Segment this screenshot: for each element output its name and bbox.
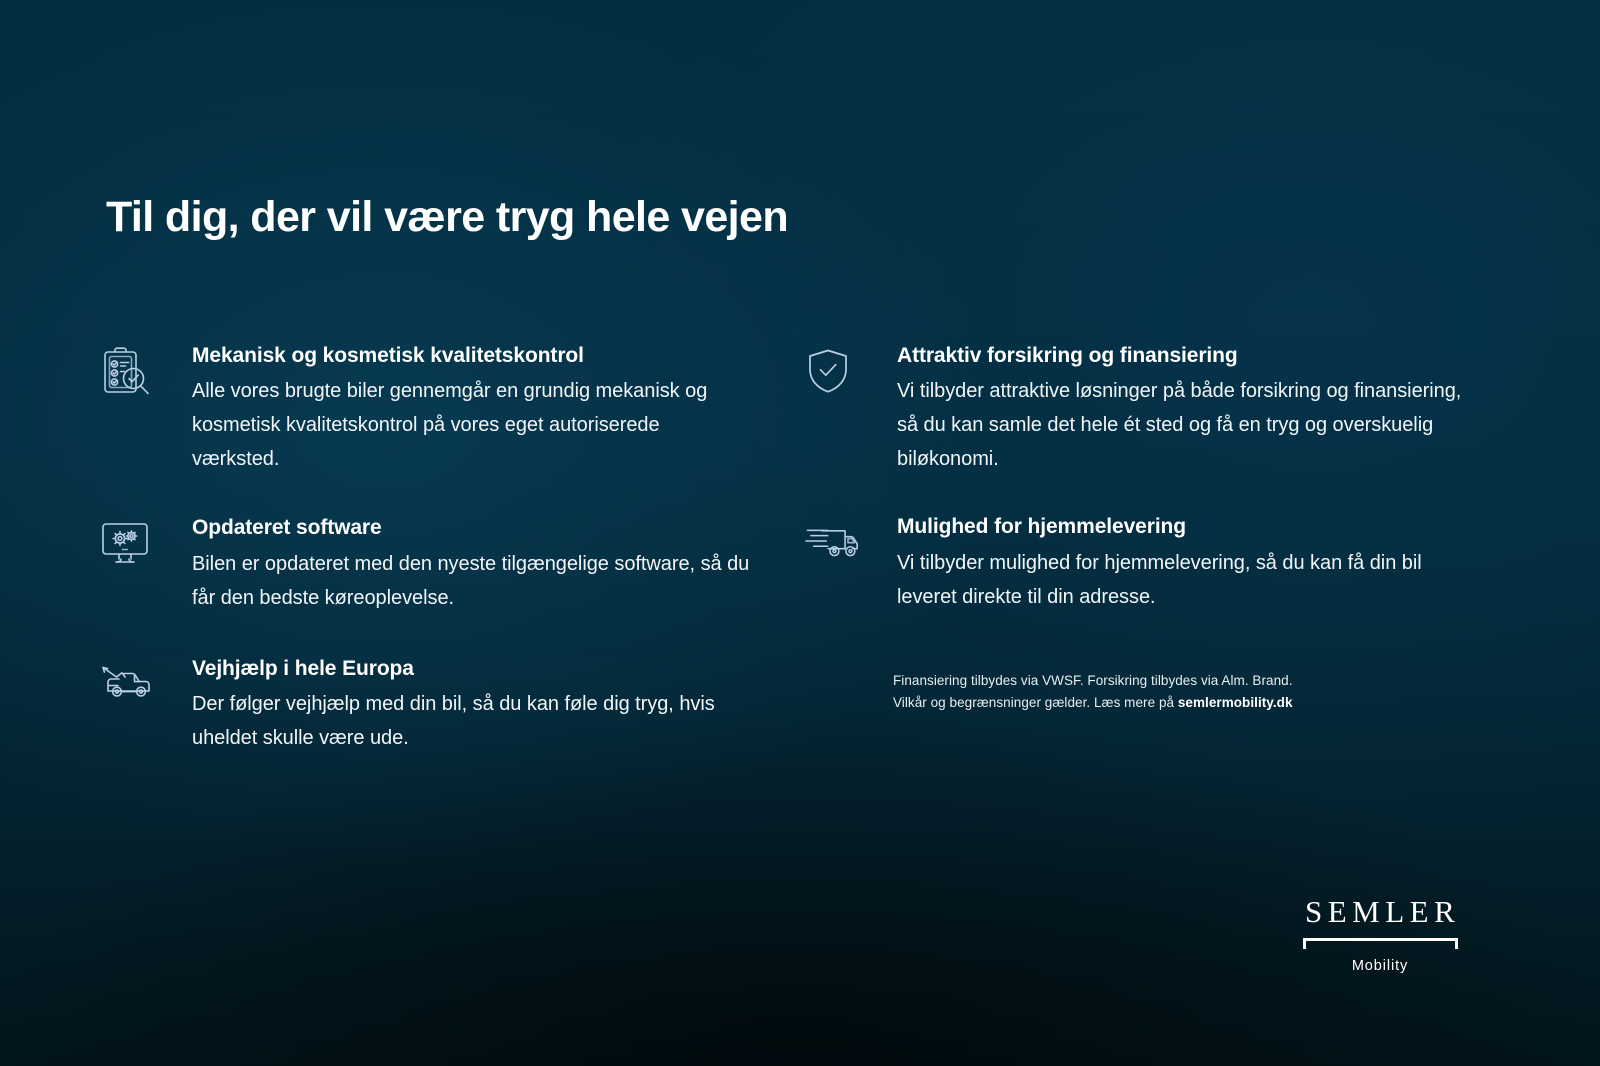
shield-check-icon <box>805 346 861 398</box>
clipboard-checklist-magnifier-icon <box>100 346 156 398</box>
feature-body: Der følger vejhjælp med din bil, så du k… <box>192 687 750 755</box>
feature-title: Vejhjælp i hele Europa <box>192 655 750 682</box>
feature-title: Attraktiv forsikring og finansiering <box>897 342 1465 369</box>
delivery-truck-icon <box>805 517 861 569</box>
feature-item-quality-control: Mekanisk og kosmetisk kvalitetskontrol A… <box>100 342 750 476</box>
feature-body: Vi tilbyder attraktive løsninger på både… <box>897 374 1465 476</box>
feature-body: Bilen er opdateret med den nyeste tilgæn… <box>192 547 750 615</box>
feature-item-roadside-assistance: Vejhjælp i hele Europa Der følger vejhjæ… <box>100 655 750 755</box>
feature-title: Opdateret software <box>192 514 750 541</box>
feature-body: Alle vores brugte biler gennemgår en gru… <box>192 374 750 476</box>
feature-item-insurance-financing: Attraktiv forsikring og finansiering Vi … <box>805 342 1465 476</box>
feature-item-updated-software: Opdateret software Bilen er opdateret me… <box>100 514 750 614</box>
semler-mobility-logo: SEMLER Mobility <box>1300 896 1460 974</box>
legal-line-2: Vilkår og begrænsninger gælder. Læs mere… <box>893 692 1413 714</box>
feature-title: Mekanisk og kosmetisk kvalitetskontrol <box>192 342 750 369</box>
feature-column-right: Attraktiv forsikring og finansiering Vi … <box>805 342 1465 614</box>
semlermobility-link[interactable]: semlermobility.dk <box>1178 695 1293 710</box>
feature-title: Mulighed for hjemmelevering <box>897 513 1465 540</box>
feature-column-left: Mekanisk og kosmetisk kvalitetskontrol A… <box>100 342 750 755</box>
page-title: Til dig, der vil være tryg hele vejen <box>106 193 788 242</box>
slide-content: Til dig, der vil være tryg hele vejen <box>0 0 1600 1066</box>
legal-disclaimer: Finansiering tilbydes via VWSF. Forsikri… <box>893 670 1413 714</box>
logo-subtitle: Mobility <box>1300 958 1460 974</box>
legal-line-2-text: Vilkår og begrænsninger gælder. Læs mere… <box>893 695 1178 710</box>
feature-body: Vi tilbyder mulighed for hjemmelevering,… <box>897 546 1465 614</box>
feature-item-home-delivery: Mulighed for hjemmelevering Vi tilbyder … <box>805 513 1465 613</box>
legal-line-1: Finansiering tilbydes via VWSF. Forsikri… <box>893 670 1413 692</box>
tow-truck-icon <box>100 659 156 711</box>
monitor-gears-icon <box>100 518 156 570</box>
logo-wordmark: SEMLER <box>1300 896 1460 927</box>
logo-divider-rule <box>1303 938 1458 949</box>
